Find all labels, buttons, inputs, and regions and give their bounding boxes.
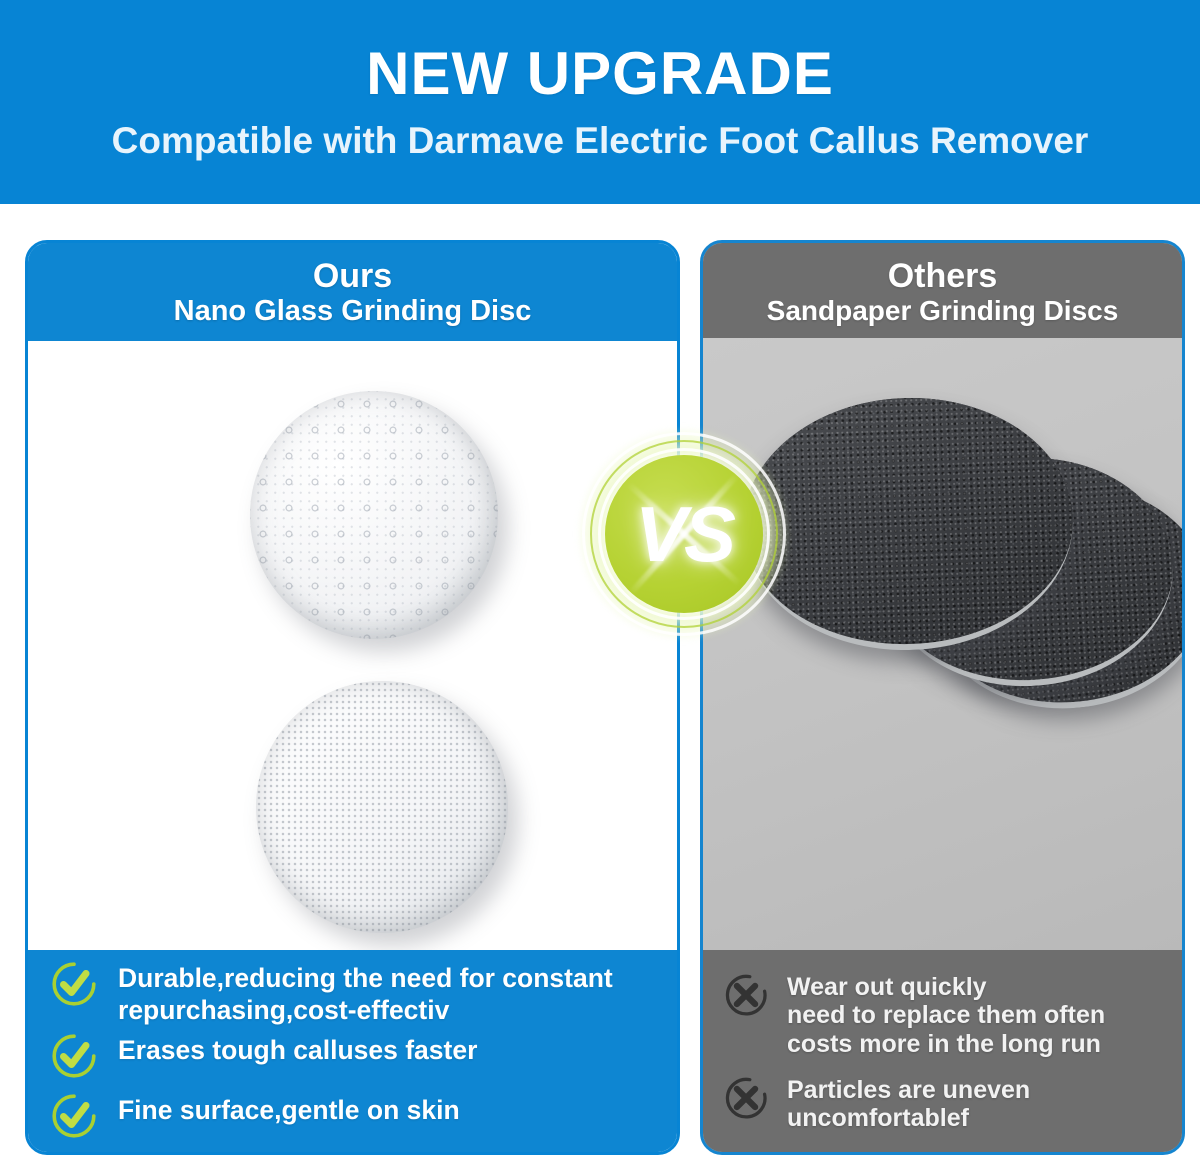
others-panel: Others Sandpaper Grinding Discs Wear out… (700, 240, 1185, 1155)
check-circle-icon (50, 1032, 98, 1085)
header-banner: NEW UPGRADE Compatible with Darmave Elec… (0, 0, 1200, 204)
drawback-item: Particles are uneven uncomfortablef (723, 1075, 1030, 1133)
others-panel-header: Others Sandpaper Grinding Discs (703, 243, 1182, 338)
ours-panel-header: Ours Nano Glass Grinding Disc (28, 243, 677, 341)
banner-subtitle: Compatible with Darmave Electric Foot Ca… (0, 122, 1200, 161)
ours-panel: Ours Nano Glass Grinding Disc Durable,re… (25, 240, 680, 1155)
drawback-item: Wear out quickly need to replace them of… (723, 972, 1105, 1058)
banner-title: NEW UPGRADE (0, 42, 1200, 105)
others-subheading: Sandpaper Grinding Discs (703, 295, 1182, 326)
x-circle-icon (723, 972, 769, 1023)
benefit-item: Erases tough calluses faster (50, 1032, 477, 1085)
check-circle-icon (50, 1092, 98, 1145)
benefit-label: Fine surface,gentle on skin (118, 1092, 460, 1126)
others-drawbacks-list: Wear out quickly need to replace them of… (703, 950, 1182, 1152)
ours-subheading: Nano Glass Grinding Disc (28, 295, 677, 327)
ours-benefits-list: Durable,reducing the need for constant r… (28, 950, 677, 1152)
benefit-item: Durable,reducing the need for constant r… (50, 960, 677, 1027)
benefit-label: Durable,reducing the need for constant r… (118, 960, 677, 1027)
vs-badge-label: VS (578, 428, 790, 640)
nano-glass-disc-mesh-texture (256, 681, 508, 933)
check-circle-icon (50, 960, 98, 1013)
drawback-label: Particles are uneven uncomfortablef (787, 1075, 1030, 1133)
nano-glass-disc-ring-texture (250, 391, 498, 639)
others-heading: Others (703, 257, 1182, 295)
drawback-label: Wear out quickly need to replace them of… (787, 972, 1105, 1058)
x-circle-icon (723, 1075, 769, 1126)
benefit-label: Erases tough calluses faster (118, 1032, 477, 1066)
benefit-item: Fine surface,gentle on skin (50, 1092, 460, 1145)
ours-heading: Ours (28, 257, 677, 295)
vs-badge: VS (578, 428, 790, 640)
